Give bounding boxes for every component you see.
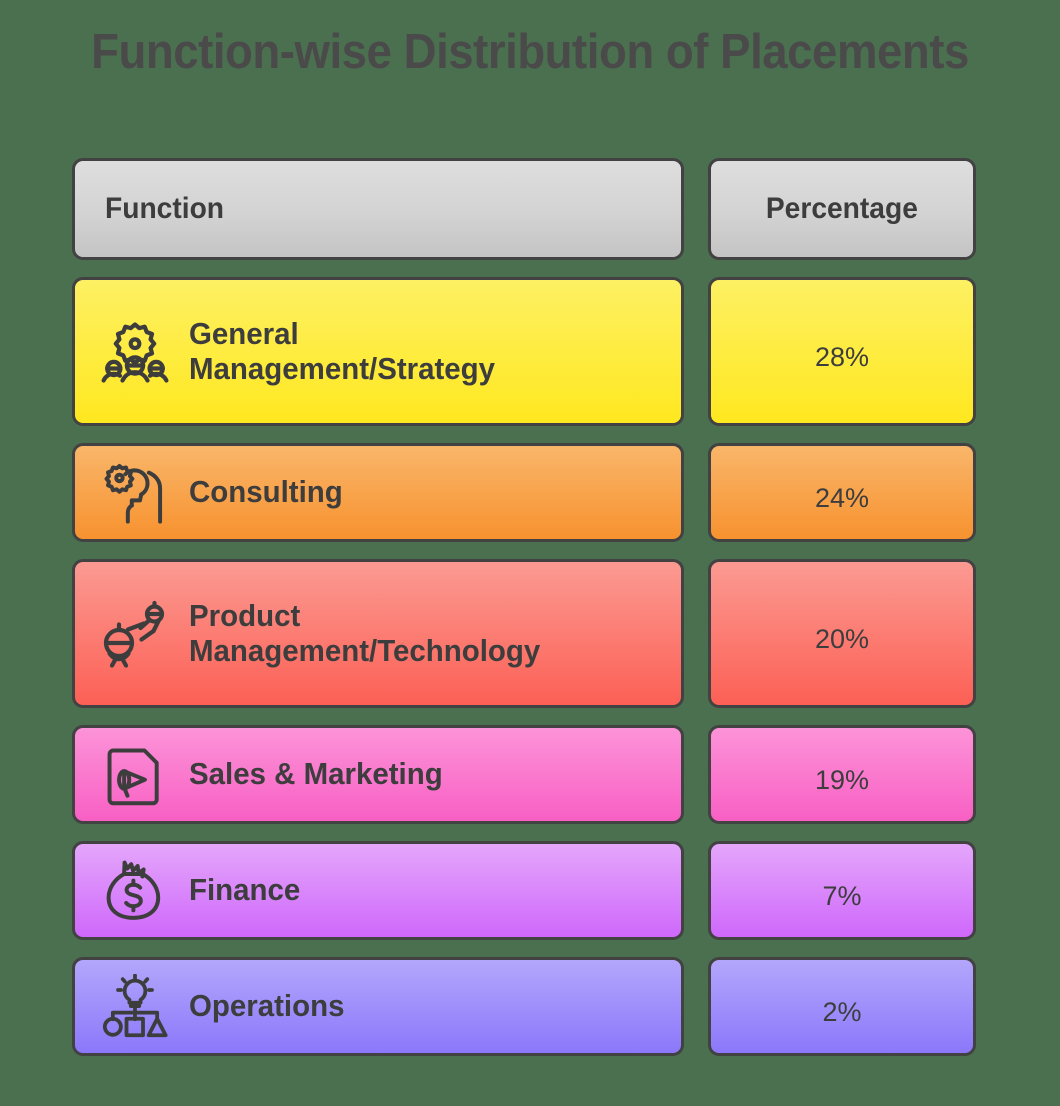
function-label-line1: Consulting	[189, 474, 343, 509]
gear-people-icon	[99, 316, 171, 388]
percentage-value: 19%	[711, 765, 973, 796]
function-cell-consulting[interactable]: Consulting	[72, 443, 684, 542]
percentage-cell-general-management[interactable]: 28%	[708, 277, 976, 426]
money-bag-icon	[99, 855, 171, 927]
percentage-value: 28%	[711, 342, 973, 373]
percentage-cell-product-management[interactable]: 20%	[708, 559, 976, 708]
function-label: Sales & Marketing	[189, 757, 443, 791]
function-label: Consulting	[189, 475, 343, 509]
percentage-value: 24%	[711, 483, 973, 514]
function-cell-finance[interactable]: Finance	[72, 841, 684, 940]
table-row: Sales & Marketing 19%	[72, 725, 988, 824]
function-label-line1: Sales & Marketing	[189, 756, 443, 791]
percentage-cell-finance[interactable]: 7%	[708, 841, 976, 940]
infographic-page: Function-wise Distribution of Placements…	[0, 0, 1060, 1106]
function-label-line2: Management/Strategy	[189, 352, 495, 386]
function-label-line2: Management/Technology	[189, 634, 540, 668]
function-label-line1: Product	[189, 598, 300, 633]
function-label: General Management/Strategy	[189, 317, 495, 385]
table-row: Operations 2%	[72, 957, 988, 1056]
function-cell-general-management[interactable]: General Management/Strategy	[72, 277, 684, 426]
page-title: Function-wise Distribution of Placements	[37, 24, 1023, 80]
head-gear-icon	[99, 457, 171, 529]
header-label-percentage: Percentage	[766, 192, 918, 226]
table-row: Finance 7%	[72, 841, 988, 940]
function-label: Finance	[189, 873, 300, 907]
function-label: Operations	[189, 989, 344, 1023]
table-row: Product Management/Technology 20%	[72, 559, 988, 708]
percentage-value: 2%	[711, 997, 973, 1028]
function-cell-sales-marketing[interactable]: Sales & Marketing	[72, 725, 684, 824]
percentage-cell-consulting[interactable]: 24%	[708, 443, 976, 542]
percentage-cell-sales-marketing[interactable]: 19%	[708, 725, 976, 824]
function-label-line1: Operations	[189, 988, 344, 1023]
table-row: Consulting 24%	[72, 443, 988, 542]
percentage-value: 7%	[711, 881, 973, 912]
distribution-table: Function Percentage	[72, 158, 988, 1073]
function-cell-operations[interactable]: Operations	[72, 957, 684, 1056]
table-row: General Management/Strategy 28%	[72, 277, 988, 426]
function-cell-product-management[interactable]: Product Management/Technology	[72, 559, 684, 708]
lightbulb-shapes-icon	[99, 971, 171, 1043]
function-label-line1: Finance	[189, 872, 300, 907]
header-cell-percentage: Percentage	[708, 158, 976, 260]
header-label-function: Function	[105, 192, 224, 226]
function-label: Product Management/Technology	[189, 599, 540, 667]
document-megaphone-icon	[99, 739, 171, 811]
percentage-value: 20%	[711, 624, 973, 655]
percentage-cell-operations[interactable]: 2%	[708, 957, 976, 1056]
function-label-line1: General	[189, 316, 299, 351]
people-rocket-icon	[99, 598, 171, 670]
header-cell-function: Function	[72, 158, 684, 260]
table-header-row: Function Percentage	[72, 158, 988, 260]
